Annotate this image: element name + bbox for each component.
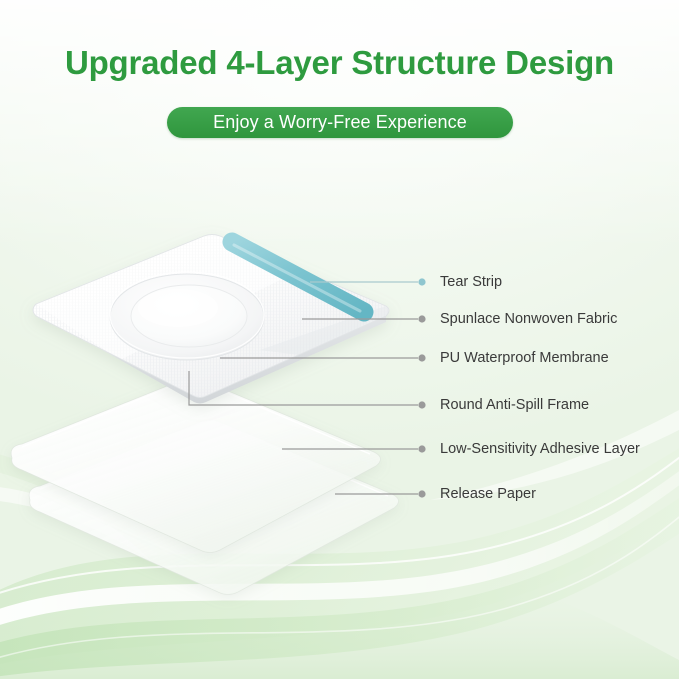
callout-label-low-sensitivity-adhesive-layer: Low-Sensitivity Adhesive Layer xyxy=(440,442,640,456)
callout-label-round-anti-spill-frame: Round Anti-Spill Frame xyxy=(440,398,589,412)
callout-label-spunlace-nonwoven-fabric: Spunlace Nonwoven Fabric xyxy=(440,312,617,326)
callout-label-tear-strip: Tear Strip xyxy=(440,275,502,289)
callout-label-release-paper: Release Paper xyxy=(440,487,536,501)
callout-label-pu-waterproof-membrane: PU Waterproof Membrane xyxy=(440,351,609,365)
callout-leader-lines xyxy=(0,0,679,679)
infographic-canvas: Upgraded 4-Layer Structure Design Enjoy … xyxy=(0,0,679,679)
